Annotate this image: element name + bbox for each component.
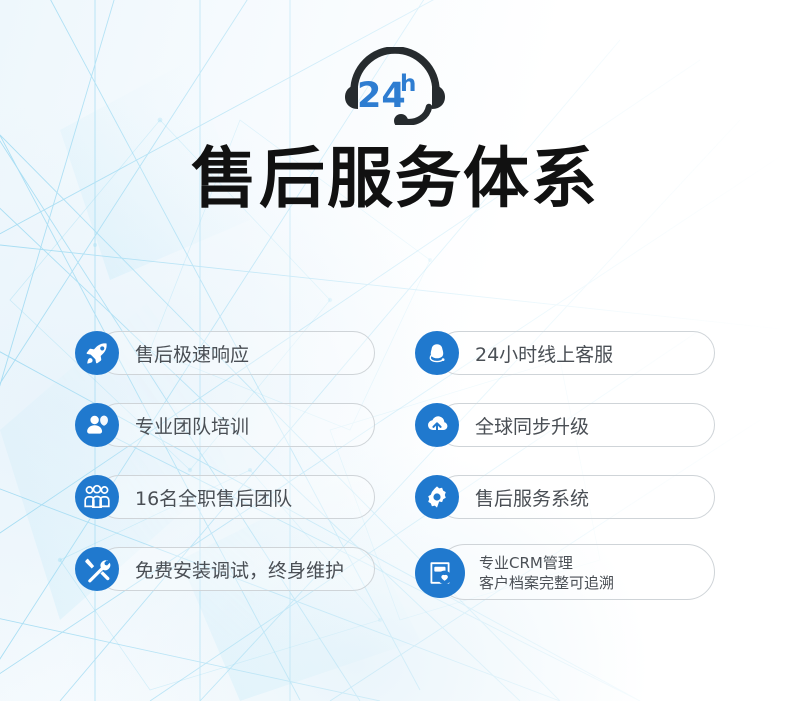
- clipboard-heart-icon: [415, 548, 465, 598]
- headset-support-icon: [415, 331, 459, 375]
- service-item-24h-support[interactable]: 24小时线上客服: [415, 328, 715, 378]
- service-item-label: 16名全职售后团队: [135, 484, 292, 511]
- service-item-label: 全球同步升级: [475, 412, 589, 439]
- service-item-label: 24小时线上客服: [475, 340, 613, 367]
- rocket-icon: [75, 331, 119, 375]
- logo-unit: h: [400, 71, 416, 97]
- service-item-label: 专业CRM管理 客户档案完整可追溯: [479, 553, 614, 594]
- right-column: 24小时线上客服 全球同步升级 售后服务系统: [415, 328, 715, 602]
- service-item-label: 售后极速响应: [135, 340, 249, 367]
- service-item-free-install[interactable]: 免费安装调试，终身维护: [75, 544, 375, 594]
- service-item-label: 专业团队培训: [135, 412, 249, 439]
- service-item-fast-response[interactable]: 售后极速响应: [75, 328, 375, 378]
- service-item-crm[interactable]: 专业CRM管理 客户档案完整可追溯: [415, 544, 715, 602]
- tools-icon: [75, 547, 119, 591]
- user-shield-icon: [75, 403, 119, 447]
- header: 24 h 售后服务体系: [0, 0, 790, 216]
- people-group-icon: [75, 475, 119, 519]
- service-item-label: 售后服务系统: [475, 484, 589, 511]
- crm-label-line2: 客户档案完整可追溯: [479, 573, 614, 593]
- service-item-global-upgrade[interactable]: 全球同步升级: [415, 400, 715, 450]
- logo-number: 24: [357, 76, 406, 116]
- left-column: 售后极速响应 专业团队培训: [75, 328, 375, 602]
- service-items-grid: 售后极速响应 专业团队培训: [0, 328, 790, 602]
- 24h-headset-logo: 24 h: [0, 47, 790, 125]
- cloud-upload-icon: [415, 403, 459, 447]
- gear-icon: [415, 475, 459, 519]
- crm-label-line1: 专业CRM管理: [479, 554, 573, 572]
- page-title: 售后服务体系: [0, 143, 790, 216]
- service-item-label: 免费安装调试，终身维护: [135, 556, 344, 583]
- service-item-team-training[interactable]: 专业团队培训: [75, 400, 375, 450]
- service-item-staff-count[interactable]: 16名全职售后团队: [75, 472, 375, 522]
- service-item-service-system[interactable]: 售后服务系统: [415, 472, 715, 522]
